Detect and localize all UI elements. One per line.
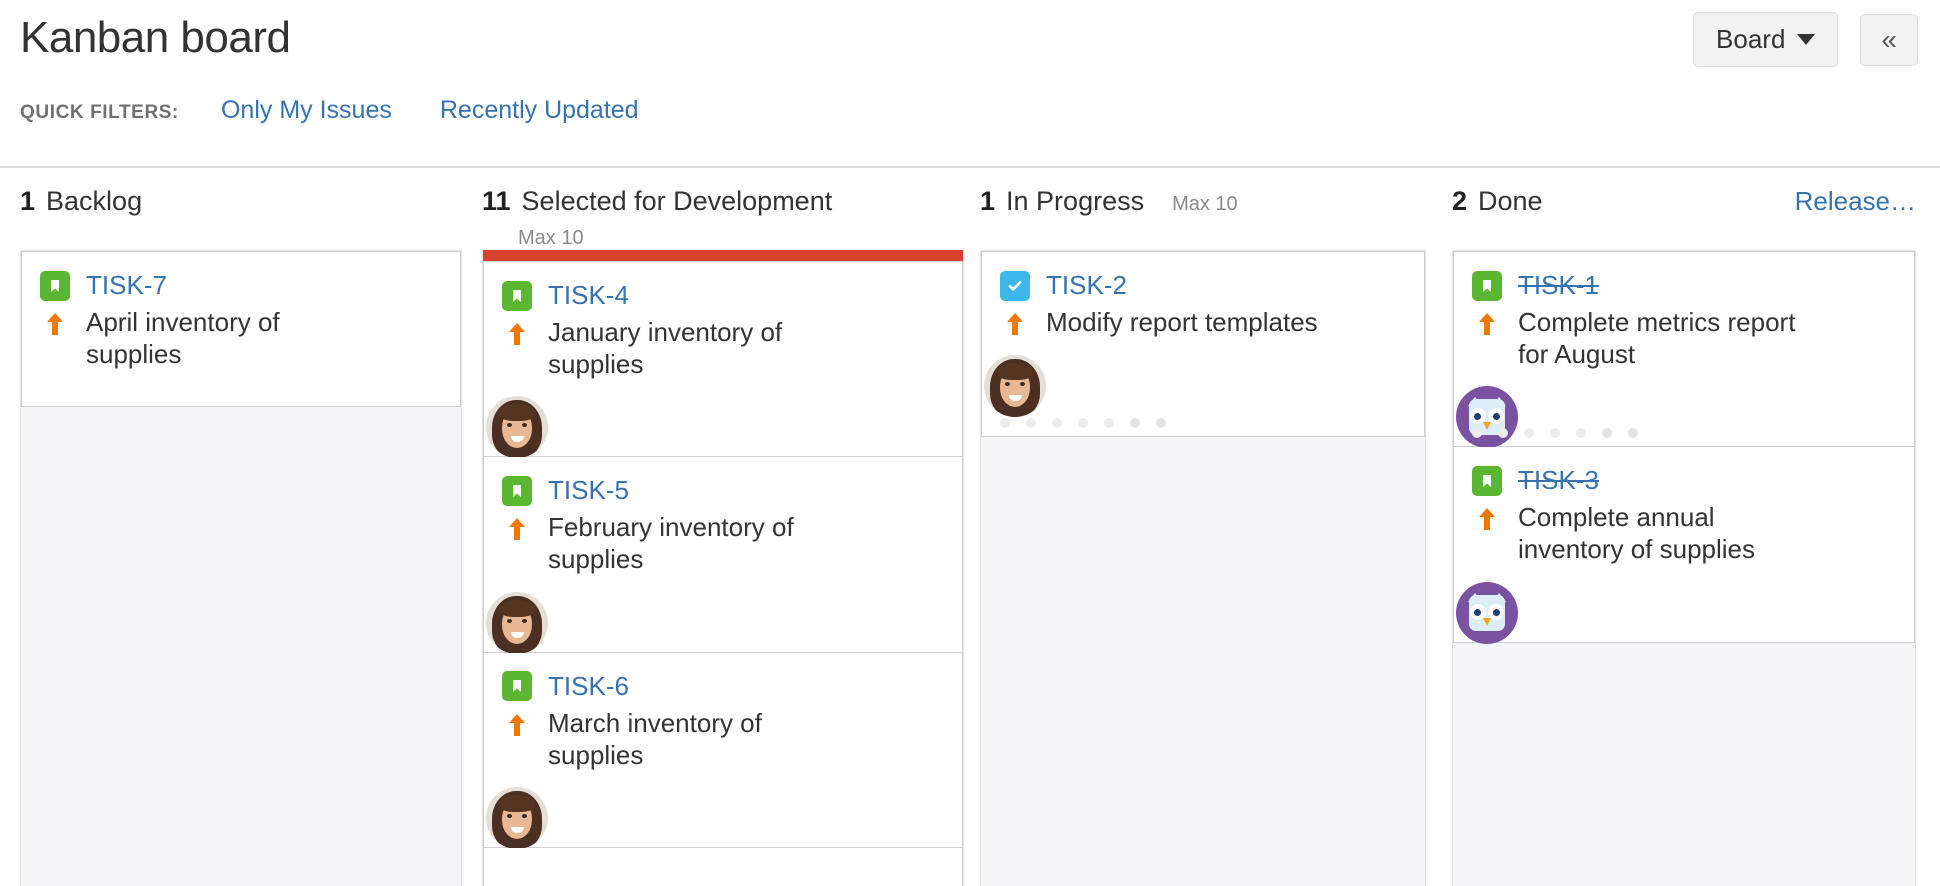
issue-card[interactable]: TISK-7 April inventory of supplies bbox=[21, 251, 461, 407]
issue-key-link[interactable]: TISK-2 bbox=[1046, 270, 1127, 301]
column-body-selected-for-development[interactable]: TISK-4 January inventory of supplies bbox=[482, 250, 964, 886]
column-header-in-progress: 1 In Progress Max 10 bbox=[980, 168, 1426, 250]
column-max-label: Max 10 bbox=[1172, 193, 1238, 216]
board-column-in-progress: 1 In Progress Max 10 TISK-2 Modify repor… bbox=[964, 168, 1444, 886]
column-count: 1 bbox=[980, 186, 995, 217]
issue-summary: January inventory of supplies bbox=[548, 317, 860, 380]
issue-summary: Complete metrics report for August bbox=[1518, 307, 1812, 370]
issue-card[interactable]: TISK-4 January inventory of supplies bbox=[483, 261, 963, 457]
avatar bbox=[486, 592, 548, 654]
column-count: 11 bbox=[482, 186, 511, 217]
priority-high-icon bbox=[502, 710, 532, 740]
issue-key-link[interactable]: TISK-5 bbox=[548, 475, 629, 506]
priority-high-icon bbox=[40, 309, 70, 339]
priority-high-icon bbox=[502, 319, 532, 349]
issue-key-link[interactable]: TISK-7 bbox=[86, 270, 167, 301]
column-header-backlog: 1 Backlog bbox=[20, 168, 462, 250]
column-name: In Progress bbox=[1006, 186, 1144, 217]
issue-card[interactable]: TISK-3 Complete annual inventory of supp… bbox=[1453, 447, 1915, 642]
kanban-board: 1 Backlog TISK-7 April inventory of supp… bbox=[0, 168, 1940, 886]
column-count: 1 bbox=[20, 186, 35, 217]
avatar bbox=[1456, 386, 1518, 448]
page-title: Kanban board bbox=[20, 14, 1920, 62]
chevron-double-up-icon: « bbox=[1881, 26, 1897, 54]
column-name: Done bbox=[1478, 186, 1543, 217]
column-body-in-progress[interactable]: TISK-2 Modify report templates bbox=[980, 250, 1426, 886]
story-icon bbox=[502, 476, 532, 506]
column-body-done[interactable]: TISK-1 Complete metrics report for Augus… bbox=[1452, 250, 1916, 886]
board-dropdown-button[interactable]: Board bbox=[1693, 12, 1838, 67]
quick-filter-only-my-issues[interactable]: Only My Issues bbox=[221, 96, 392, 125]
column-body-backlog[interactable]: TISK-7 April inventory of supplies bbox=[20, 250, 462, 886]
story-icon bbox=[502, 281, 532, 311]
story-icon bbox=[1472, 271, 1502, 301]
priority-high-icon bbox=[1472, 309, 1502, 339]
issue-summary: Modify report templates bbox=[1046, 307, 1318, 339]
priority-high-icon bbox=[1472, 504, 1502, 534]
column-name: Backlog bbox=[46, 186, 142, 217]
story-icon bbox=[1472, 466, 1502, 496]
quick-filter-recently-updated[interactable]: Recently Updated bbox=[440, 96, 639, 125]
avatar bbox=[486, 787, 548, 849]
story-icon bbox=[502, 671, 532, 701]
issue-progress-dots bbox=[1472, 428, 1638, 438]
avatar bbox=[1456, 582, 1518, 644]
issue-summary: February inventory of supplies bbox=[548, 512, 860, 575]
header-controls: Board « bbox=[1693, 12, 1918, 67]
column-header-selected-for-development: 11 Selected for Development Max 10 bbox=[482, 168, 964, 250]
column-name: Selected for Development bbox=[522, 186, 833, 217]
column-count: 2 bbox=[1452, 186, 1467, 217]
issue-key-link[interactable]: TISK-1 bbox=[1518, 270, 1599, 301]
issue-summary: Complete annual inventory of supplies bbox=[1518, 502, 1812, 565]
issue-key-link[interactable]: TISK-6 bbox=[548, 671, 629, 702]
quick-filters-label: QUICK FILTERS: bbox=[20, 102, 179, 124]
board-column-selected-for-development: 11 Selected for Development Max 10 TISK-… bbox=[482, 168, 964, 886]
avatar bbox=[486, 396, 548, 458]
priority-high-icon bbox=[1000, 309, 1030, 339]
board-column-done: 2 Done Release… TISK-1 Complete metrics … bbox=[1444, 168, 1936, 886]
story-icon bbox=[40, 271, 70, 301]
issue-card[interactable]: TISK-1 Complete metrics report for Augus… bbox=[1453, 251, 1915, 447]
issue-key-link[interactable]: TISK-3 bbox=[1518, 465, 1599, 496]
release-link[interactable]: Release… bbox=[1795, 186, 1916, 217]
issue-card[interactable]: TISK-6 March inventory of supplies bbox=[483, 653, 963, 848]
task-icon bbox=[1000, 271, 1030, 301]
priority-high-icon bbox=[502, 514, 532, 544]
issue-summary: April inventory of supplies bbox=[86, 307, 358, 370]
board-column-backlog: 1 Backlog TISK-7 April inventory of supp… bbox=[0, 168, 482, 886]
issue-card[interactable]: TISK-2 Modify report templates bbox=[981, 251, 1425, 437]
column-header-done: 2 Done Release… bbox=[1452, 168, 1916, 250]
board-dropdown-label: Board bbox=[1716, 24, 1785, 55]
quick-filters-bar: QUICK FILTERS: Only My Issues Recently U… bbox=[20, 96, 1920, 125]
issue-key-link[interactable]: TISK-4 bbox=[548, 280, 629, 311]
column-limit-exceeded-bar bbox=[483, 250, 963, 261]
issue-summary: March inventory of supplies bbox=[548, 708, 860, 771]
chevron-down-icon bbox=[1797, 34, 1815, 45]
avatar bbox=[984, 355, 1046, 417]
board-header: Kanban board Board « QUICK FILTERS: Only… bbox=[0, 0, 1940, 168]
issue-progress-dots bbox=[1000, 418, 1166, 428]
collapse-header-button[interactable]: « bbox=[1860, 14, 1918, 66]
issue-card-partial[interactable] bbox=[483, 848, 963, 886]
column-max-label: Max 10 bbox=[518, 227, 964, 250]
issue-card[interactable]: TISK-5 February inventory of supplies bbox=[483, 457, 963, 652]
